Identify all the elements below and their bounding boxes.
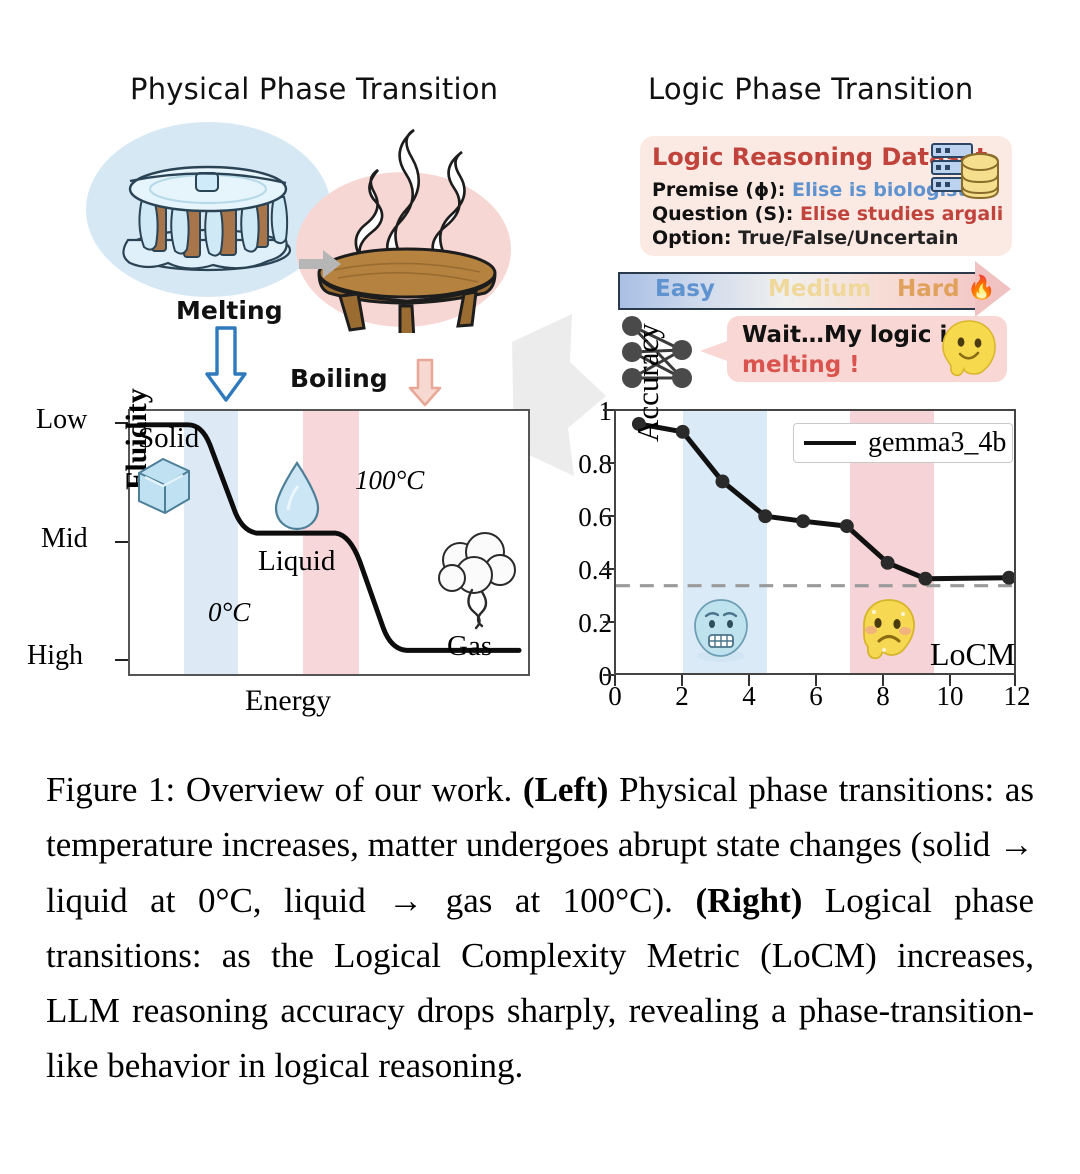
legend-line-swatch: [804, 441, 856, 445]
melting-down-arrow-icon: [205, 326, 247, 404]
ytick-label-0.2: 0.2: [556, 608, 612, 639]
page-title-right: Logic Phase Transition: [648, 72, 973, 106]
ytick-label-low: Low: [36, 404, 87, 436]
flame-icon: 🔥: [967, 274, 996, 301]
gray-arrow-icon: [297, 247, 343, 281]
xtick-mark-2: [681, 675, 683, 686]
state-label-liquid: Liquid: [258, 545, 335, 578]
speech-bubble-tail: [700, 340, 730, 362]
dataset-question-row: Question (S): Elise studies argali: [652, 203, 1003, 225]
ytick-label-0.6: 0.6: [556, 502, 612, 533]
axis-label-locm: LoCM: [930, 636, 1015, 673]
ytick-mark-high: [115, 659, 128, 661]
melting-ice-table-icon: [108, 145, 308, 275]
state-label-gas: Gas: [447, 630, 492, 663]
speech-bubble-line1: Wait…My logic is: [742, 322, 961, 348]
ytick-mark-0.6: [603, 515, 614, 517]
xtick-mark-12: [1014, 675, 1016, 686]
boiling-label: Boiling: [290, 364, 388, 393]
difficulty-label-easy: Easy: [655, 276, 715, 302]
axis-label-energy: Energy: [245, 684, 331, 718]
premise-label: Premise (ϕ):: [652, 179, 785, 201]
ytick-mark-mid: [115, 541, 128, 543]
ytick-mark-0.8: [603, 462, 614, 464]
ytick-label-high: High: [27, 640, 83, 672]
question-value: Elise studies argali: [800, 203, 1003, 225]
cold-face-emoji: [690, 596, 752, 668]
option-value: True/False/Uncertain: [738, 227, 958, 249]
caption-prefix: Figure 1: Overview of our work.: [46, 770, 523, 809]
difficulty-label-medium: Medium: [768, 276, 871, 302]
figure-caption: Figure 1: Overview of our work. (Left) P…: [46, 762, 1034, 1094]
xtick-mark-0: [614, 675, 616, 686]
database-server-icon: [928, 140, 1002, 202]
melting-face-emoji-chart: [858, 596, 920, 668]
temp-label-boiling: 100°C: [355, 465, 424, 496]
melting-face-emoji: [940, 318, 998, 380]
melting-label: Melting: [176, 296, 283, 325]
xtick-mark-4: [748, 675, 750, 686]
temp-label-melting: 0°C: [208, 597, 250, 628]
chart-legend: gemma3_4b: [793, 423, 1013, 463]
xtick-mark-10: [949, 675, 951, 686]
option-label: Option:: [652, 227, 732, 249]
speech-bubble-line2: melting !: [742, 352, 860, 378]
legend-label-gemma3-4b: gemma3_4b: [868, 427, 1006, 459]
ytick-mark-0.0: [603, 674, 614, 676]
xtick-mark-6: [815, 675, 817, 686]
dataset-option-row: Option: True/False/Uncertain: [652, 227, 959, 249]
ytick-label-1.0: 1: [556, 396, 612, 427]
ice-cube-icon: [133, 455, 195, 517]
xtick-label-12: 12: [997, 681, 1037, 712]
ytick-mark-1.0: [603, 409, 614, 411]
steaming-wooden-table-icon: [300, 128, 515, 333]
page-title-left: Physical Phase Transition: [130, 72, 498, 106]
caption-right-tag: (Right): [695, 881, 802, 920]
boiling-down-arrow-icon: [407, 358, 443, 408]
ytick-mark-0.4: [603, 568, 614, 570]
question-label: Question (S):: [652, 203, 793, 225]
xtick-mark-8: [882, 675, 884, 686]
ytick-label-0.8: 0.8: [556, 449, 612, 480]
ytick-label-0.4: 0.4: [556, 555, 612, 586]
difficulty-label-hard: Hard: [897, 276, 960, 302]
axis-label-accuracy: Accuracy: [630, 323, 666, 442]
gas-cloud-icon: [430, 530, 520, 630]
caption-left-tag: (Left): [523, 770, 609, 809]
ytick-label-mid: Mid: [41, 523, 88, 555]
ytick-mark-0.2: [603, 621, 614, 623]
state-label-solid: Solid: [138, 422, 199, 455]
water-drop-icon: [272, 460, 322, 532]
